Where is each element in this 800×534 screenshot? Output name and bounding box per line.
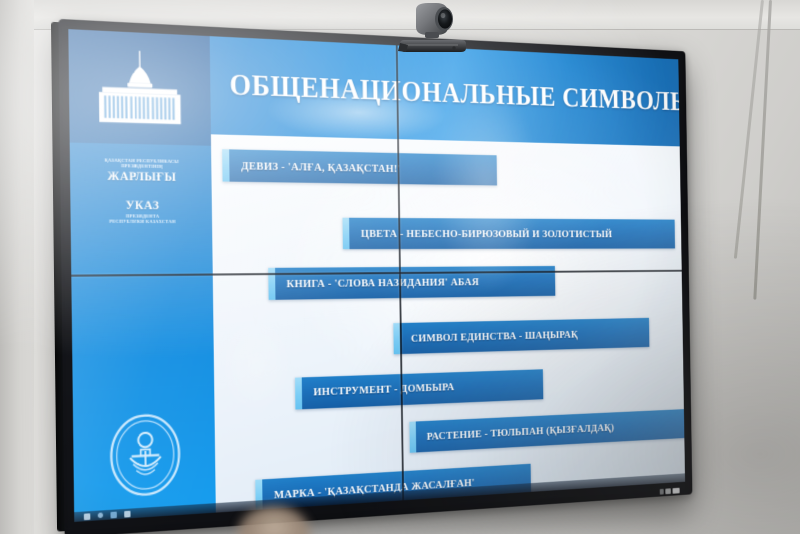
bezel-badge-mark: [665, 488, 671, 494]
slide-sidebar: ҚАЗАҚСТАН РЕСПУБЛИКАСЫ ПРЕЗИДЕНТІНІҢ ЖАР…: [68, 29, 216, 522]
bar-label: РАСТЕНИЕ - ТЮЛЬПАН (ҚЫЗҒАЛДАҚ): [416, 421, 624, 443]
sidebar-header: [68, 29, 211, 145]
settings-icon[interactable]: [110, 511, 116, 518]
window-icon[interactable]: [124, 510, 130, 517]
ptz-conference-camera: [398, 2, 470, 54]
bezel-badge-sticker: [672, 488, 679, 494]
bar-label: КНИГА - 'СЛОВА НАЗИДАНИЯ' АБАЯ: [275, 276, 489, 290]
display-screen: ҚАЗАҚСТАН РЕСПУБЛИКАСЫ ПРЕЗИДЕНТІНІҢ ЖАР…: [68, 29, 685, 522]
camera-icon: [398, 2, 470, 54]
akorda-building-icon: [90, 45, 191, 130]
presentation-slide: ҚАЗАҚСТАН РЕСПУБЛИКАСЫ ПРЕЗИДЕНТІНІҢ ЖАР…: [68, 29, 685, 522]
symbol-bar: КНИГА - 'СЛОВА НАЗИДАНИЯ' АБАЯ: [268, 266, 555, 300]
os-taskbar[interactable]: [74, 473, 685, 522]
decree-kaz-line2: ПРЕЗИДЕНТІНІҢ: [105, 162, 179, 169]
state-emblem-icon: [106, 410, 184, 501]
bar-label: СИМВОЛ ЕДИНСТВА - ШАҢЫРАҚ: [400, 328, 587, 344]
bar-label: ДЕВИЗ - 'АЛҒА, ҚАЗАҚСТАН!': [229, 159, 410, 175]
bar-label: ИНСТРУМЕНТ - ДОМБЫРА: [302, 381, 465, 399]
display-assembly: ҚАЗАҚСТАН РЕСПУБЛИКАСЫ ПРЕЗИДЕНТІНІҢ ЖАР…: [58, 19, 692, 534]
decree-text-block: ҚАЗАҚСТАН РЕСПУБЛИКАСЫ ПРЕЗИДЕНТІНІҢ ЖАР…: [98, 157, 186, 225]
wall-corner: [0, 0, 34, 534]
bar-accent-tab: [268, 268, 275, 300]
decree-rus-line2: РЕСПУБЛИКИ КАЗАХСТАН: [105, 219, 179, 225]
symbol-bar: ИНСТРУМЕНТ - ДОМБЫРА: [295, 369, 544, 409]
screen-reflection-secondary: [196, 282, 316, 446]
spacer: [105, 184, 179, 198]
symbol-bar: РАСТЕНИЕ - ТЮЛЬПАН (ҚЫЗҒАЛДАҚ): [409, 409, 685, 453]
page-title: ОБЩЕНАЦИОНАЛЬНЫЕ СИМВОЛЫ: [229, 69, 679, 118]
bar-label: ХЭШТЕГИ — #QAZAQSTAN, #KAZAKHSTAN: [391, 512, 624, 513]
bar-accent-tab: [393, 323, 400, 354]
bar-accent-tab: [222, 149, 229, 182]
start-icon[interactable]: [84, 513, 91, 520]
symbol-bar: СИМВОЛ ЕДИНСТВА - ШАҢЫРАҚ: [393, 318, 649, 354]
state-emblem: [106, 410, 184, 506]
search-icon[interactable]: [98, 512, 103, 518]
bar-accent-tab: [343, 218, 350, 249]
decree-rus-title: УКАЗ: [105, 199, 179, 214]
symbol-bar: ДЕВИЗ - 'АЛҒА, ҚАЗАҚСТАН!': [222, 149, 497, 185]
bar-label: ЦВЕТА - НЕБЕСНО-БИРЮЗОВЫЙ И ЗОЛОТИСТЫЙ: [350, 228, 622, 240]
bezel-label: [660, 488, 680, 495]
room-scene: ҚАЗАҚСТАН РЕСПУБЛИКАСЫ ПРЕЗИДЕНТІНІҢ ЖАР…: [0, 0, 800, 534]
symbol-bar: ХЭШТЕГИ — #QAZAQSTAN, #KAZAKHSTAN: [384, 500, 665, 513]
display-bezel: ҚАЗАҚСТАН РЕСПУБЛИКАСЫ ПРЕЗИДЕНТІНІҢ ЖАР…: [58, 19, 692, 534]
slide-body: ДЕВИЗ - 'АЛҒА, ҚАЗАҚСТАН!'ЦВЕТА - НЕБЕСН…: [211, 134, 685, 513]
decree-rus-line1: ПРЕЗИДЕНТА: [105, 213, 179, 219]
bar-accent-tab: [295, 377, 302, 409]
bezel-badge-dot: [660, 489, 664, 495]
decree-kaz-line1: ҚАЗАҚСТАН РЕСПУБЛИКАСЫ: [104, 157, 178, 164]
decree-kaz-title: ЖАРЛЫҒЫ: [105, 170, 179, 185]
slide-main: ОБЩЕНАЦИОНАЛЬНЫЕ СИМВОЛЫ ДЕВИЗ - 'АЛҒА, …: [210, 36, 685, 512]
video-wall: ҚАЗАҚСТАН РЕСПУБЛИКАСЫ ПРЕЗИДЕНТІНІҢ ЖАР…: [60, 36, 750, 534]
symbol-bar: ЦВЕТА - НЕБЕСНО-БИРЮЗОВЫЙ И ЗОЛОТИСТЫЙ: [343, 218, 675, 249]
